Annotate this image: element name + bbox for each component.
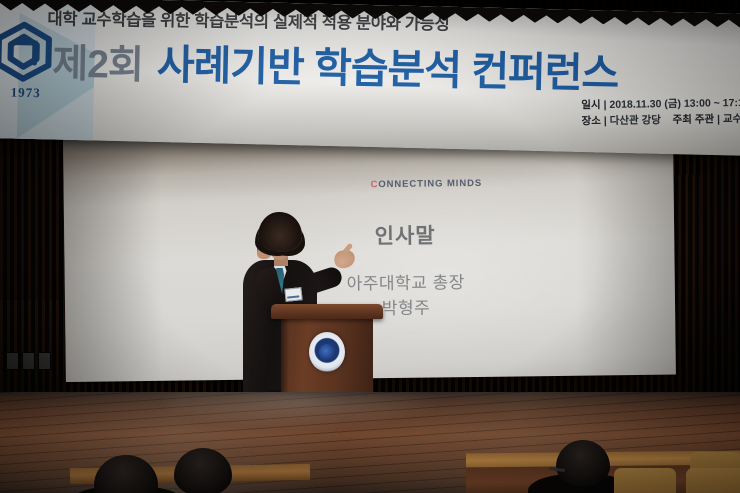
conference-photo-scene: CONNECTING MINDS 인사말 아주대학교 총장 박형주 — [0, 0, 740, 493]
speaker-hair — [258, 212, 302, 252]
emblem-founding-year: 1973 — [0, 84, 60, 102]
banner-edition: 제2회 — [52, 42, 143, 87]
audience-seat — [686, 468, 740, 493]
banner-place-label: 장소 — [581, 115, 601, 127]
banner-place-row: 장소 | 다산관 강당 주최 주관 | 교수학습 — [581, 111, 740, 130]
banner-title-text: 사례기반 학습분석 컨퍼런스 — [156, 42, 618, 97]
banner-sep: | — [604, 115, 607, 127]
audience-seat — [614, 468, 676, 493]
banner-sep: | — [603, 99, 606, 111]
banner-host-value: 교수학습 — [723, 113, 740, 126]
banner-place-value: 다산관 강당 — [610, 114, 661, 127]
banner-host-label: 주최 주관 — [672, 114, 714, 127]
event-banner: 1973 대학 교수학습을 위한 학습분석의 실제적 적용 분야와 가능성 제2… — [0, 0, 740, 162]
university-seal-icon — [309, 332, 345, 372]
lectern-side-shadow — [281, 318, 289, 402]
banner-main-title: 제2회사례기반 학습분석 컨퍼런스 — [52, 28, 619, 99]
lectern-top-surface — [271, 304, 383, 319]
banner-sep: | — [717, 114, 720, 126]
lectern — [277, 304, 377, 402]
banner-meta-block: 일시 | 2018.11.30 (금) 13:00 ~ 17:10 장소 | 다… — [581, 95, 740, 130]
banner-date-label: 일시 — [581, 99, 601, 111]
audience-head — [556, 440, 610, 486]
banner-surface: 1973 대학 교수학습을 위한 학습분석의 실제적 적용 분야와 가능성 제2… — [0, 0, 740, 156]
banner-date-value: 2018.11.30 (금) 13:00 ~ 17:10 — [609, 97, 740, 111]
speaker-name-badge — [284, 287, 302, 302]
